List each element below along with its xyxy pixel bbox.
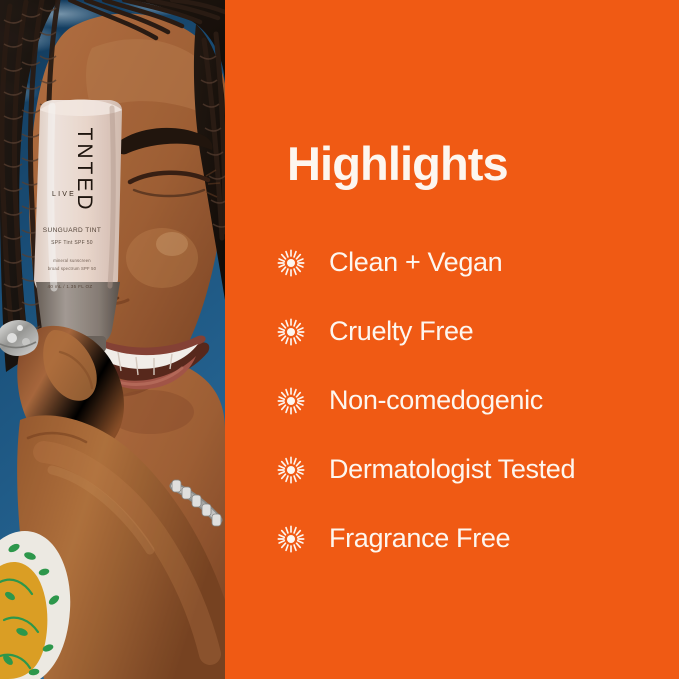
sunburst-icon [277,249,305,277]
list-item-label: Cruelty Free [329,318,473,345]
highlights-list: Clean + Vegan [277,228,677,573]
highlights-content-panel: Highlights [225,0,679,679]
list-item-label: Clean + Vegan [329,249,502,276]
list-item-label: Non-comedogenic [329,387,543,414]
sunburst-icon [277,456,305,484]
product-highlights-banner: TNTED LIVE SUNGUARD TINT SPF Tint SPF 50… [0,0,679,679]
list-item: Dermatologist Tested [277,435,677,504]
product-lifestyle-photo: TNTED LIVE SUNGUARD TINT SPF Tint SPF 50… [0,0,225,679]
page-title: Highlights [287,139,508,188]
sunburst-icon [277,387,305,415]
list-item: Cruelty Free [277,297,677,366]
photo-illustration: TNTED LIVE SUNGUARD TINT SPF Tint SPF 50… [0,0,225,679]
list-item-label: Fragrance Free [329,525,510,552]
sunburst-icon [277,525,305,553]
list-item: Fragrance Free [277,504,677,573]
list-item-label: Dermatologist Tested [329,456,575,483]
sunburst-icon [277,318,305,346]
list-item: Clean + Vegan [277,228,677,297]
list-item: Non-comedogenic [277,366,677,435]
